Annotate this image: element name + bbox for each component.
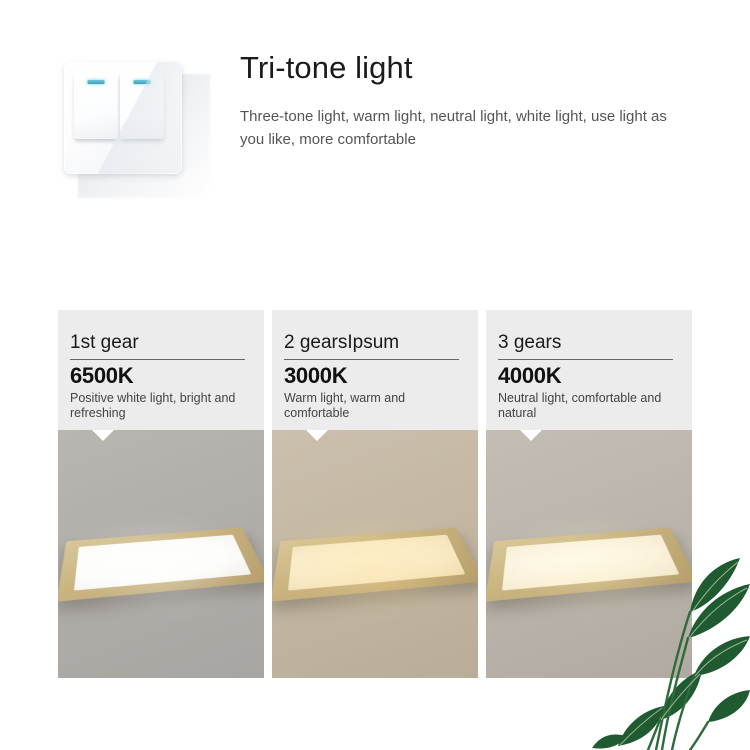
lamp-light-panel	[74, 535, 252, 591]
switch-rocker-left	[74, 73, 118, 139]
wall-switch-two-gang-icon	[60, 58, 210, 198]
gear-description: Neutral light, comfortable and natural	[498, 391, 680, 421]
gear-card-list: 1st gear 6500K Positive white light, bri…	[58, 310, 692, 678]
gear-card-text: 2 gearsIpsum 3000K Warm light, warm and …	[272, 310, 478, 430]
lamp-light-panel	[502, 535, 680, 591]
gear-label: 1st gear	[70, 332, 252, 354]
switch-rocker-right	[120, 73, 164, 139]
pointer-triangle-icon	[520, 430, 542, 441]
divider	[498, 359, 673, 360]
gear-card-text: 1st gear 6500K Positive white light, bri…	[58, 310, 264, 430]
gear-photo	[272, 430, 478, 678]
lamp-light-panel	[288, 535, 466, 591]
gear-photo	[58, 430, 264, 678]
kelvin-value: 6500K	[70, 363, 252, 389]
page-title: Tri-tone light	[240, 50, 413, 86]
gear-photo	[486, 430, 692, 678]
kelvin-value: 4000K	[498, 363, 680, 389]
divider	[70, 359, 245, 360]
led-indicator-icon	[88, 80, 105, 84]
product-infographic: Tri-tone light Three-tone light, warm li…	[0, 0, 750, 750]
divider	[284, 359, 459, 360]
gear-label: 2 gearsIpsum	[284, 332, 466, 354]
pointer-triangle-icon	[306, 430, 328, 441]
gear-description: Warm light, warm and comfortable	[284, 391, 466, 421]
switch-rockers	[74, 73, 164, 139]
page-subtitle: Three-tone light, warm light, neutral li…	[240, 105, 690, 151]
gear-label: 3 gears	[498, 332, 680, 354]
gear-card: 1st gear 6500K Positive white light, bri…	[58, 310, 264, 678]
hero-section: Tri-tone light Three-tone light, warm li…	[0, 0, 750, 250]
kelvin-value: 3000K	[284, 363, 466, 389]
gear-card: 2 gearsIpsum 3000K Warm light, warm and …	[272, 310, 478, 678]
pointer-triangle-icon	[92, 430, 114, 441]
gear-card-text: 3 gears 4000K Neutral light, comfortable…	[486, 310, 692, 430]
led-indicator-icon	[134, 80, 151, 84]
gear-description: Positive white light, bright and refresh…	[70, 391, 252, 421]
gear-card: 3 gears 4000K Neutral light, comfortable…	[486, 310, 692, 678]
